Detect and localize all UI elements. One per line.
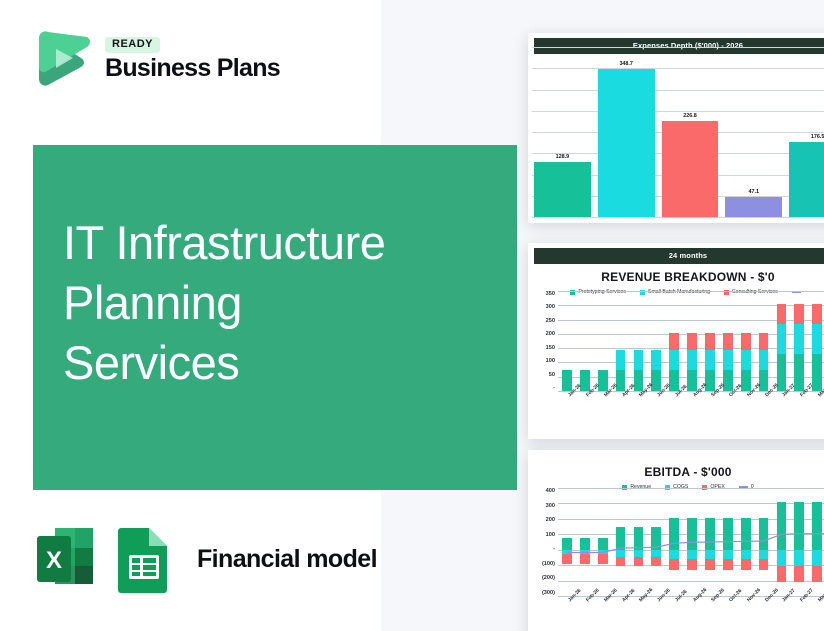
y-tick: -	[553, 385, 555, 391]
google-sheets-icon	[113, 523, 175, 595]
bar-segment	[723, 333, 733, 350]
bar	[598, 69, 655, 217]
y-axis-ebitda: 400300200100-(100)(200)(300)	[532, 488, 558, 596]
bar-column	[723, 291, 733, 391]
chart-plot-ebitda: 400300200100-(100)(200)(300) Jan-26Feb-2…	[532, 488, 824, 596]
y-tick: 50	[549, 372, 555, 378]
bar-column	[741, 291, 751, 391]
bar-segment	[669, 333, 679, 350]
bar-column	[794, 291, 804, 391]
y-axis-revenue: 35030025020015010050-	[532, 291, 558, 391]
chart-plot-revenue: 35030025020015010050- Jan-26Feb-26Mar-26…	[532, 291, 824, 391]
bar-column	[651, 291, 661, 391]
bar-segment	[794, 324, 804, 354]
y-tick: -	[553, 546, 555, 552]
bar-column	[669, 291, 679, 391]
bar	[534, 162, 591, 217]
chart-title-revenue-breakdown: REVENUE BREAKDOWN - $'0	[534, 270, 824, 284]
bar-value-label: 348.7	[619, 61, 633, 67]
bar-segment	[705, 333, 715, 350]
bars-revenue	[558, 291, 824, 391]
bar-column	[759, 291, 769, 391]
bar	[725, 197, 782, 217]
bar-segment	[777, 304, 787, 325]
bar-column: 348.7	[598, 47, 655, 217]
y-tick: 150	[546, 345, 555, 351]
bar-column	[598, 291, 608, 391]
bar-value-label: 128.9	[556, 154, 570, 160]
chart-card-revenue-breakdown[interactable]: 24 months REVENUE BREAKDOWN - $'0 Protot…	[528, 243, 824, 439]
bar-column	[634, 291, 644, 391]
bar-segment	[812, 324, 822, 354]
bar-segment	[651, 350, 661, 370]
bar-segment	[741, 333, 751, 350]
bar-column: 176.5	[789, 47, 824, 217]
y-tick: 400	[546, 488, 555, 494]
bar-column: 128.9	[534, 47, 591, 217]
brand-lockup: READY Business Plans	[31, 27, 280, 91]
ready-badge: READY	[105, 37, 160, 53]
bar-segment	[759, 350, 769, 370]
bar	[662, 121, 719, 217]
bar-segment	[562, 370, 572, 391]
bar-segment	[669, 370, 679, 391]
footer-row: X Financial model	[33, 523, 377, 595]
bar-segment	[777, 324, 787, 354]
y-tick: (300)	[542, 590, 555, 596]
bar-segment	[616, 350, 626, 370]
hero-banner: IT Infrastructure Planning Services	[33, 145, 517, 490]
bar-segment	[723, 350, 733, 370]
chart-card-expenses-depth[interactable]: Expenses Depth ($'000) - 2026 128.9348.7…	[528, 33, 824, 223]
bar-column	[777, 291, 787, 391]
financial-model-label: Financial model	[197, 545, 377, 574]
bar-segment	[794, 304, 804, 325]
bar-value-label: 176.5	[811, 134, 824, 140]
bar-column: 47.1	[725, 47, 782, 217]
chart-title-ebitda: EBITDA - $'000	[534, 465, 824, 479]
page-title: IT Infrastructure Planning Services	[63, 213, 503, 393]
chart-card-ebitda[interactable]: EBITDA - $'000 RevenueCOGSOPEX0 40030020…	[528, 450, 824, 631]
bar	[789, 142, 824, 217]
bar-column: 226.8	[662, 47, 719, 217]
chart-plot-expenses: 128.9348.7226.847.1176.5	[534, 47, 824, 217]
bar-column	[687, 291, 697, 391]
brand-name: Business Plans	[105, 55, 280, 81]
bar-value-label: 226.8	[683, 113, 697, 119]
x-axis-revenue: Jan-26Feb-26Mar-26Apr-26May-26Jun-26Jul-…	[558, 391, 824, 417]
bar-segment	[705, 350, 715, 370]
y-tick: 100	[546, 358, 555, 364]
bar-segment	[651, 370, 661, 391]
bar-column	[562, 291, 572, 391]
y-tick: (200)	[542, 575, 555, 581]
y-tick: 200	[546, 331, 555, 337]
bar-segment	[669, 350, 679, 370]
y-tick: 200	[546, 517, 555, 523]
bar-value-label: 47.1	[749, 189, 760, 195]
x-axis-ebitda: Jan-26Feb-26Mar-26Apr-26May-26Jun-26Jul-…	[558, 596, 824, 622]
y-tick: 250	[546, 318, 555, 324]
bar-segment	[687, 333, 697, 350]
bar-segment	[634, 350, 644, 370]
y-tick: 350	[546, 291, 555, 297]
y-tick: 100	[546, 532, 555, 538]
bar-column	[705, 291, 715, 391]
bar-segment	[812, 304, 822, 325]
y-tick: 300	[546, 503, 555, 509]
bar-column	[812, 291, 822, 391]
bar-segment	[741, 350, 751, 370]
bar-column	[616, 291, 626, 391]
y-tick: 300	[546, 304, 555, 310]
zero-trend-line	[558, 488, 824, 596]
microsoft-excel-icon: X	[33, 523, 97, 595]
svg-text:X: X	[46, 547, 62, 574]
y-tick: (100)	[542, 561, 555, 567]
bar-segment	[687, 350, 697, 370]
play-triangle-logo-icon	[31, 27, 93, 91]
bar-segment	[759, 333, 769, 350]
bar-column	[580, 291, 590, 391]
chart-header-24-months: 24 months	[534, 248, 824, 264]
